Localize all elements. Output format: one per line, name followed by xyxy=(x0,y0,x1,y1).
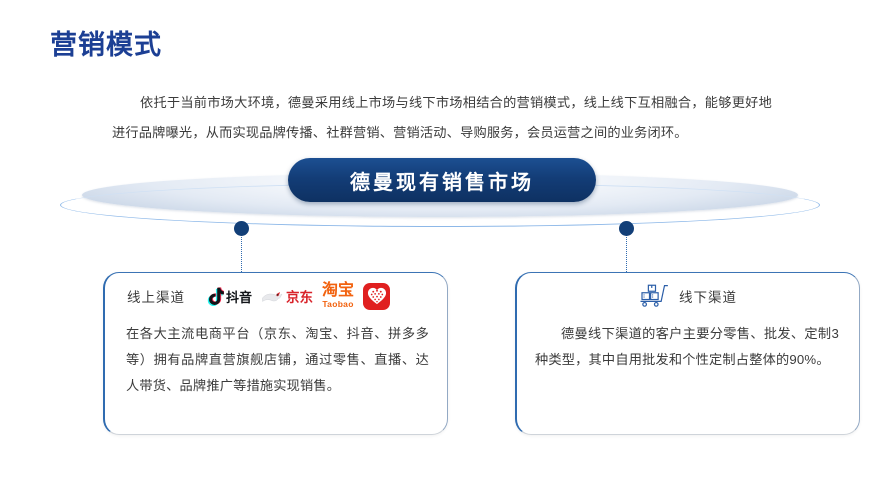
taobao-logo-text-cn: 淘宝 xyxy=(322,283,354,299)
douyin-logo: 抖音 xyxy=(207,287,252,306)
market-banner: 德曼现有销售市场 xyxy=(288,158,596,202)
taobao-logo-text-en: Taobao xyxy=(322,300,353,309)
ecommerce-logo-row: 抖音 京东 淘宝 Taobao xyxy=(207,283,390,310)
taobao-logo: 淘宝 Taobao xyxy=(322,283,354,309)
douyin-note-icon xyxy=(207,287,224,306)
connector-line-left xyxy=(241,232,242,272)
connector-line-right xyxy=(626,232,627,272)
connector-dot-left xyxy=(234,221,249,236)
card-online-body-text: 在各大主流电商平台（京东、淘宝、抖音、拼多多等）拥有品牌直营旗舰店铺，通过零售、… xyxy=(105,319,447,399)
card-offline-header: 线下渠道 xyxy=(517,273,859,319)
card-offline-channel: 线下渠道 德曼线下渠道的客户主要分零售、批发、定制3种类型，其中自用批发和个性定… xyxy=(515,272,860,435)
pinduoduo-heart-icon xyxy=(367,286,387,306)
pinduoduo-logo xyxy=(363,283,390,310)
page-title: 营销模式 xyxy=(50,28,162,62)
slide-canvas: 营销模式 依托于当前市场大环境，德曼采用线上市场与线下市场相结合的营销模式，线上… xyxy=(0,0,880,495)
connector-dot-right xyxy=(619,221,634,236)
online-channel-label: 线上渠道 xyxy=(127,286,185,306)
douyin-logo-text: 抖音 xyxy=(226,287,252,306)
card-offline-body-text: 德曼线下渠道的客户主要分零售、批发、定制3种类型，其中自用批发和个性定制占整体的… xyxy=(517,319,859,373)
market-banner-label: 德曼现有销售市场 xyxy=(350,166,534,195)
hand-truck-icon xyxy=(639,283,669,309)
card-online-header: 线上渠道 抖音 xyxy=(105,273,447,319)
jd-logo: 京东 xyxy=(261,286,313,306)
jd-logo-text: 京东 xyxy=(286,286,313,306)
intro-paragraph: 依托于当前市场大环境，德曼采用线上市场与线下市场相结合的营销模式，线上线下互相融… xyxy=(112,88,772,148)
jd-dog-icon xyxy=(261,288,283,305)
offline-channel-label: 线下渠道 xyxy=(679,286,737,306)
card-online-channel: 线上渠道 抖音 xyxy=(103,272,448,435)
